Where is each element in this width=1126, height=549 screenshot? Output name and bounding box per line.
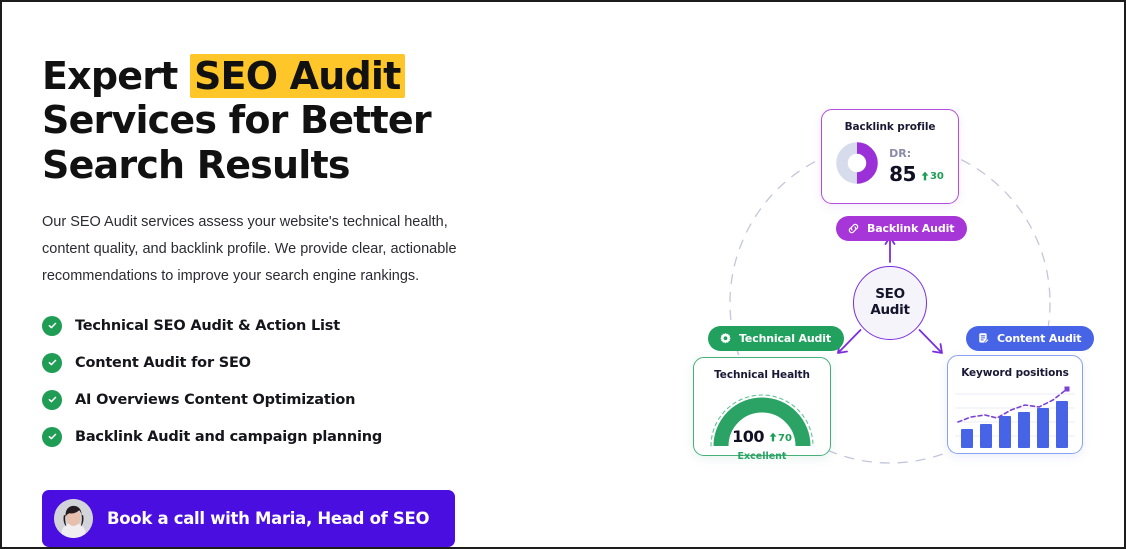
headline-part-1: Expert [42,54,190,98]
card-title: Backlink profile [822,121,958,133]
landing-page: Expert SEO Audit Services for Better Sea… [0,0,1126,549]
keyword-positions-card: Keyword positions [947,355,1083,454]
health-delta: 70 [769,432,792,445]
headline-highlight: SEO Audit [190,54,405,98]
check-circle-icon [42,427,62,447]
link-icon [847,222,860,235]
list-item: Content Audit for SEO [42,353,542,373]
badge-content-audit[interactable]: Content Audit [966,326,1094,351]
seo-audit-diagram: SEO Audit Backlink profile DR: 85 [657,90,1117,490]
card-title: Technical Health [694,369,830,381]
hero-content: Expert SEO Audit Services for Better Sea… [42,54,542,549]
center-node-seo-audit: SEO Audit [853,266,927,340]
feature-list: Technical SEO Audit & Action List Conten… [42,316,542,447]
dr-delta-value: 30 [930,172,944,182]
headline-part-2: Services for Better Search Results [42,98,431,186]
hero-paragraph: Our SEO Audit services assess your websi… [42,209,494,289]
dr-delta: 30 [921,171,944,184]
feature-label: AI Overviews Content Optimization [75,392,355,408]
feature-label: Content Audit for SEO [75,355,251,371]
page-title: Expert SEO Audit Services for Better Sea… [42,54,542,187]
health-caption: Excellent [694,451,830,462]
gear-icon [719,332,732,345]
feature-label: Backlink Audit and campaign planning [75,429,382,445]
badge-backlink-audit[interactable]: Backlink Audit [836,216,967,241]
check-circle-icon [42,316,62,336]
dr-value: 85 [889,164,916,184]
center-node-line-2: Audit [870,303,909,319]
document-edit-icon [977,332,990,345]
health-score: 100 [732,427,764,446]
donut-chart [836,142,878,189]
feature-label: Technical SEO Audit & Action List [75,318,340,334]
center-node-line-1: SEO [875,287,905,303]
card-title: Keyword positions [948,367,1082,379]
badge-technical-audit[interactable]: Technical Audit [708,326,844,351]
technical-health-card: Technical Health 100 70 Excellent [693,357,831,456]
check-circle-icon [42,390,62,410]
avatar [54,499,93,538]
health-delta-value: 70 [778,433,792,444]
backlink-profile-card: Backlink profile DR: 85 [821,109,959,204]
check-circle-icon [42,353,62,373]
list-item: AI Overviews Content Optimization [42,390,542,410]
badge-label: Content Audit [997,332,1081,345]
badge-label: Technical Audit [739,332,831,345]
arrow-up-icon [921,171,929,184]
dr-label: DR: [889,148,944,159]
health-gauge: 100 70 [703,388,821,450]
book-a-call-label: Book a call with Maria, Head of SEO [107,509,429,528]
book-a-call-button[interactable]: Book a call with Maria, Head of SEO [42,490,455,547]
list-item: Backlink Audit and campaign planning [42,427,542,447]
keyword-bar-chart [955,384,1075,448]
arrow-up-icon [769,432,777,445]
list-item: Technical SEO Audit & Action List [42,316,542,336]
badge-label: Backlink Audit [867,222,954,235]
